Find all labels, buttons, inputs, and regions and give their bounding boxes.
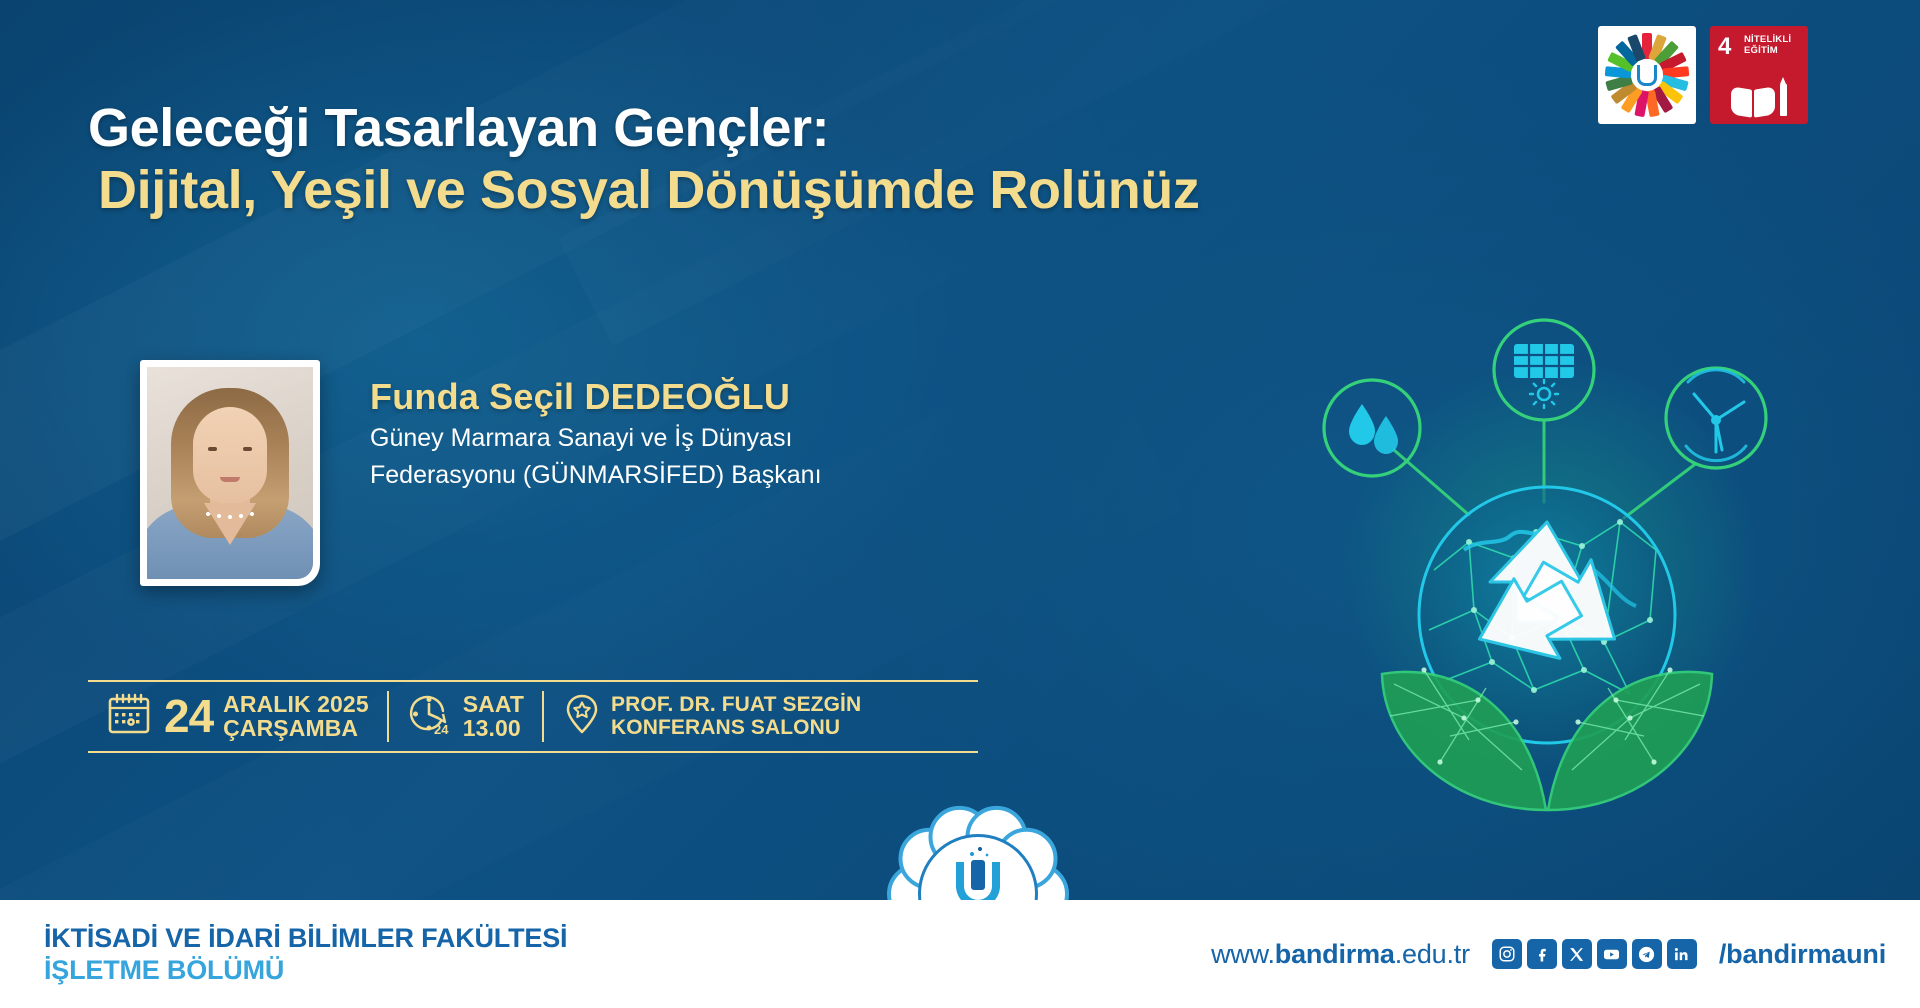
website-url[interactable]: www.bandirma.edu.tr (1211, 939, 1470, 970)
youtube-icon[interactable] (1597, 939, 1627, 969)
location-pin-star-icon (562, 691, 602, 742)
speaker-block: Funda Seçil DEDEOĞLU Güney Marmara Sanay… (140, 360, 822, 586)
clock-icon: 24 (407, 691, 457, 742)
event-month-year: ARALIK 2025 (223, 693, 369, 717)
url-brand: bandirma (1275, 939, 1395, 969)
event-time: 24 SAAT 13.00 (387, 691, 542, 742)
sdg-goal-4-badge: 4 NİTELİKLİ EĞİTİM (1710, 26, 1808, 124)
social-links (1492, 939, 1697, 969)
green-transformation-globe-illustration (1264, 270, 1824, 830)
footer-department: İŞLETME BÖLÜMÜ (44, 954, 567, 986)
sdg-goal-title-line2: EĞİTİM (1744, 46, 1800, 57)
instagram-icon[interactable] (1492, 939, 1522, 969)
speaker-name: Funda Seçil DEDEOĞLU (370, 376, 822, 417)
venue-line-2: KONFERANS SALONU (611, 717, 861, 739)
event-weekday: ÇARŞAMBA (223, 717, 369, 741)
event-date: 24 ARALIK 2025 ÇARŞAMBA (88, 691, 387, 742)
svg-text:24: 24 (434, 722, 449, 737)
calendar-icon (106, 691, 152, 742)
title-line-2: Dijital, Yeşil ve Sosyal Dönüşümde Rolün… (88, 160, 1338, 220)
sdg-logo-group: 4 NİTELİKLİ EĞİTİM (1598, 26, 1808, 124)
url-suffix: .edu.tr (1395, 939, 1470, 969)
venue-line-1: PROF. DR. FUAT SEZGİN (611, 694, 861, 716)
event-details-bar: 24 ARALIK 2025 ÇARŞAMBA 24 SAAT (88, 680, 978, 753)
sdg-wheel-logo (1598, 26, 1696, 124)
event-day-number: 24 (164, 695, 213, 737)
linkedin-icon[interactable] (1667, 939, 1697, 969)
open-book-and-pencil-icon (1710, 84, 1808, 116)
facebook-icon[interactable] (1527, 939, 1557, 969)
footer-faculty: İKTİSADİ VE İDARİ BİLİMLER FAKÜLTESİ (44, 922, 567, 954)
speaker-affiliation-line-1: Güney Marmara Sanayi ve İş Dünyası (370, 422, 822, 454)
event-time-value: 13.00 (463, 717, 524, 741)
speaker-affiliation-line-2: Federasyonu (GÜNMARSİFED) Başkanı (370, 459, 822, 491)
event-time-label: SAAT (463, 693, 524, 717)
social-handle: /bandirmauni (1719, 939, 1886, 970)
speaker-portrait (147, 367, 313, 579)
footer-faculty-block: İKTİSADİ VE İDARİ BİLİMLER FAKÜLTESİ İŞL… (44, 922, 567, 987)
speaker-photo-frame (140, 360, 320, 586)
background-streak (0, 230, 1384, 1008)
url-prefix: www. (1211, 939, 1275, 969)
x-twitter-icon[interactable] (1562, 939, 1592, 969)
telegram-icon[interactable] (1632, 939, 1662, 969)
sdg-goal-number: 4 (1718, 35, 1731, 59)
page-title: Geleceği Tasarlayan Gençler: Dijital, Ye… (88, 98, 1338, 221)
title-line-1: Geleceği Tasarlayan Gençler: (88, 98, 1338, 158)
event-venue: PROF. DR. FUAT SEZGİN KONFERANS SALONU (542, 691, 879, 742)
footer-bar: İKTİSADİ VE İDARİ BİLİMLER FAKÜLTESİ İŞL… (0, 900, 1920, 1008)
event-poster: 4 NİTELİKLİ EĞİTİM Geleceği Tasarlayan G… (0, 0, 1920, 1008)
